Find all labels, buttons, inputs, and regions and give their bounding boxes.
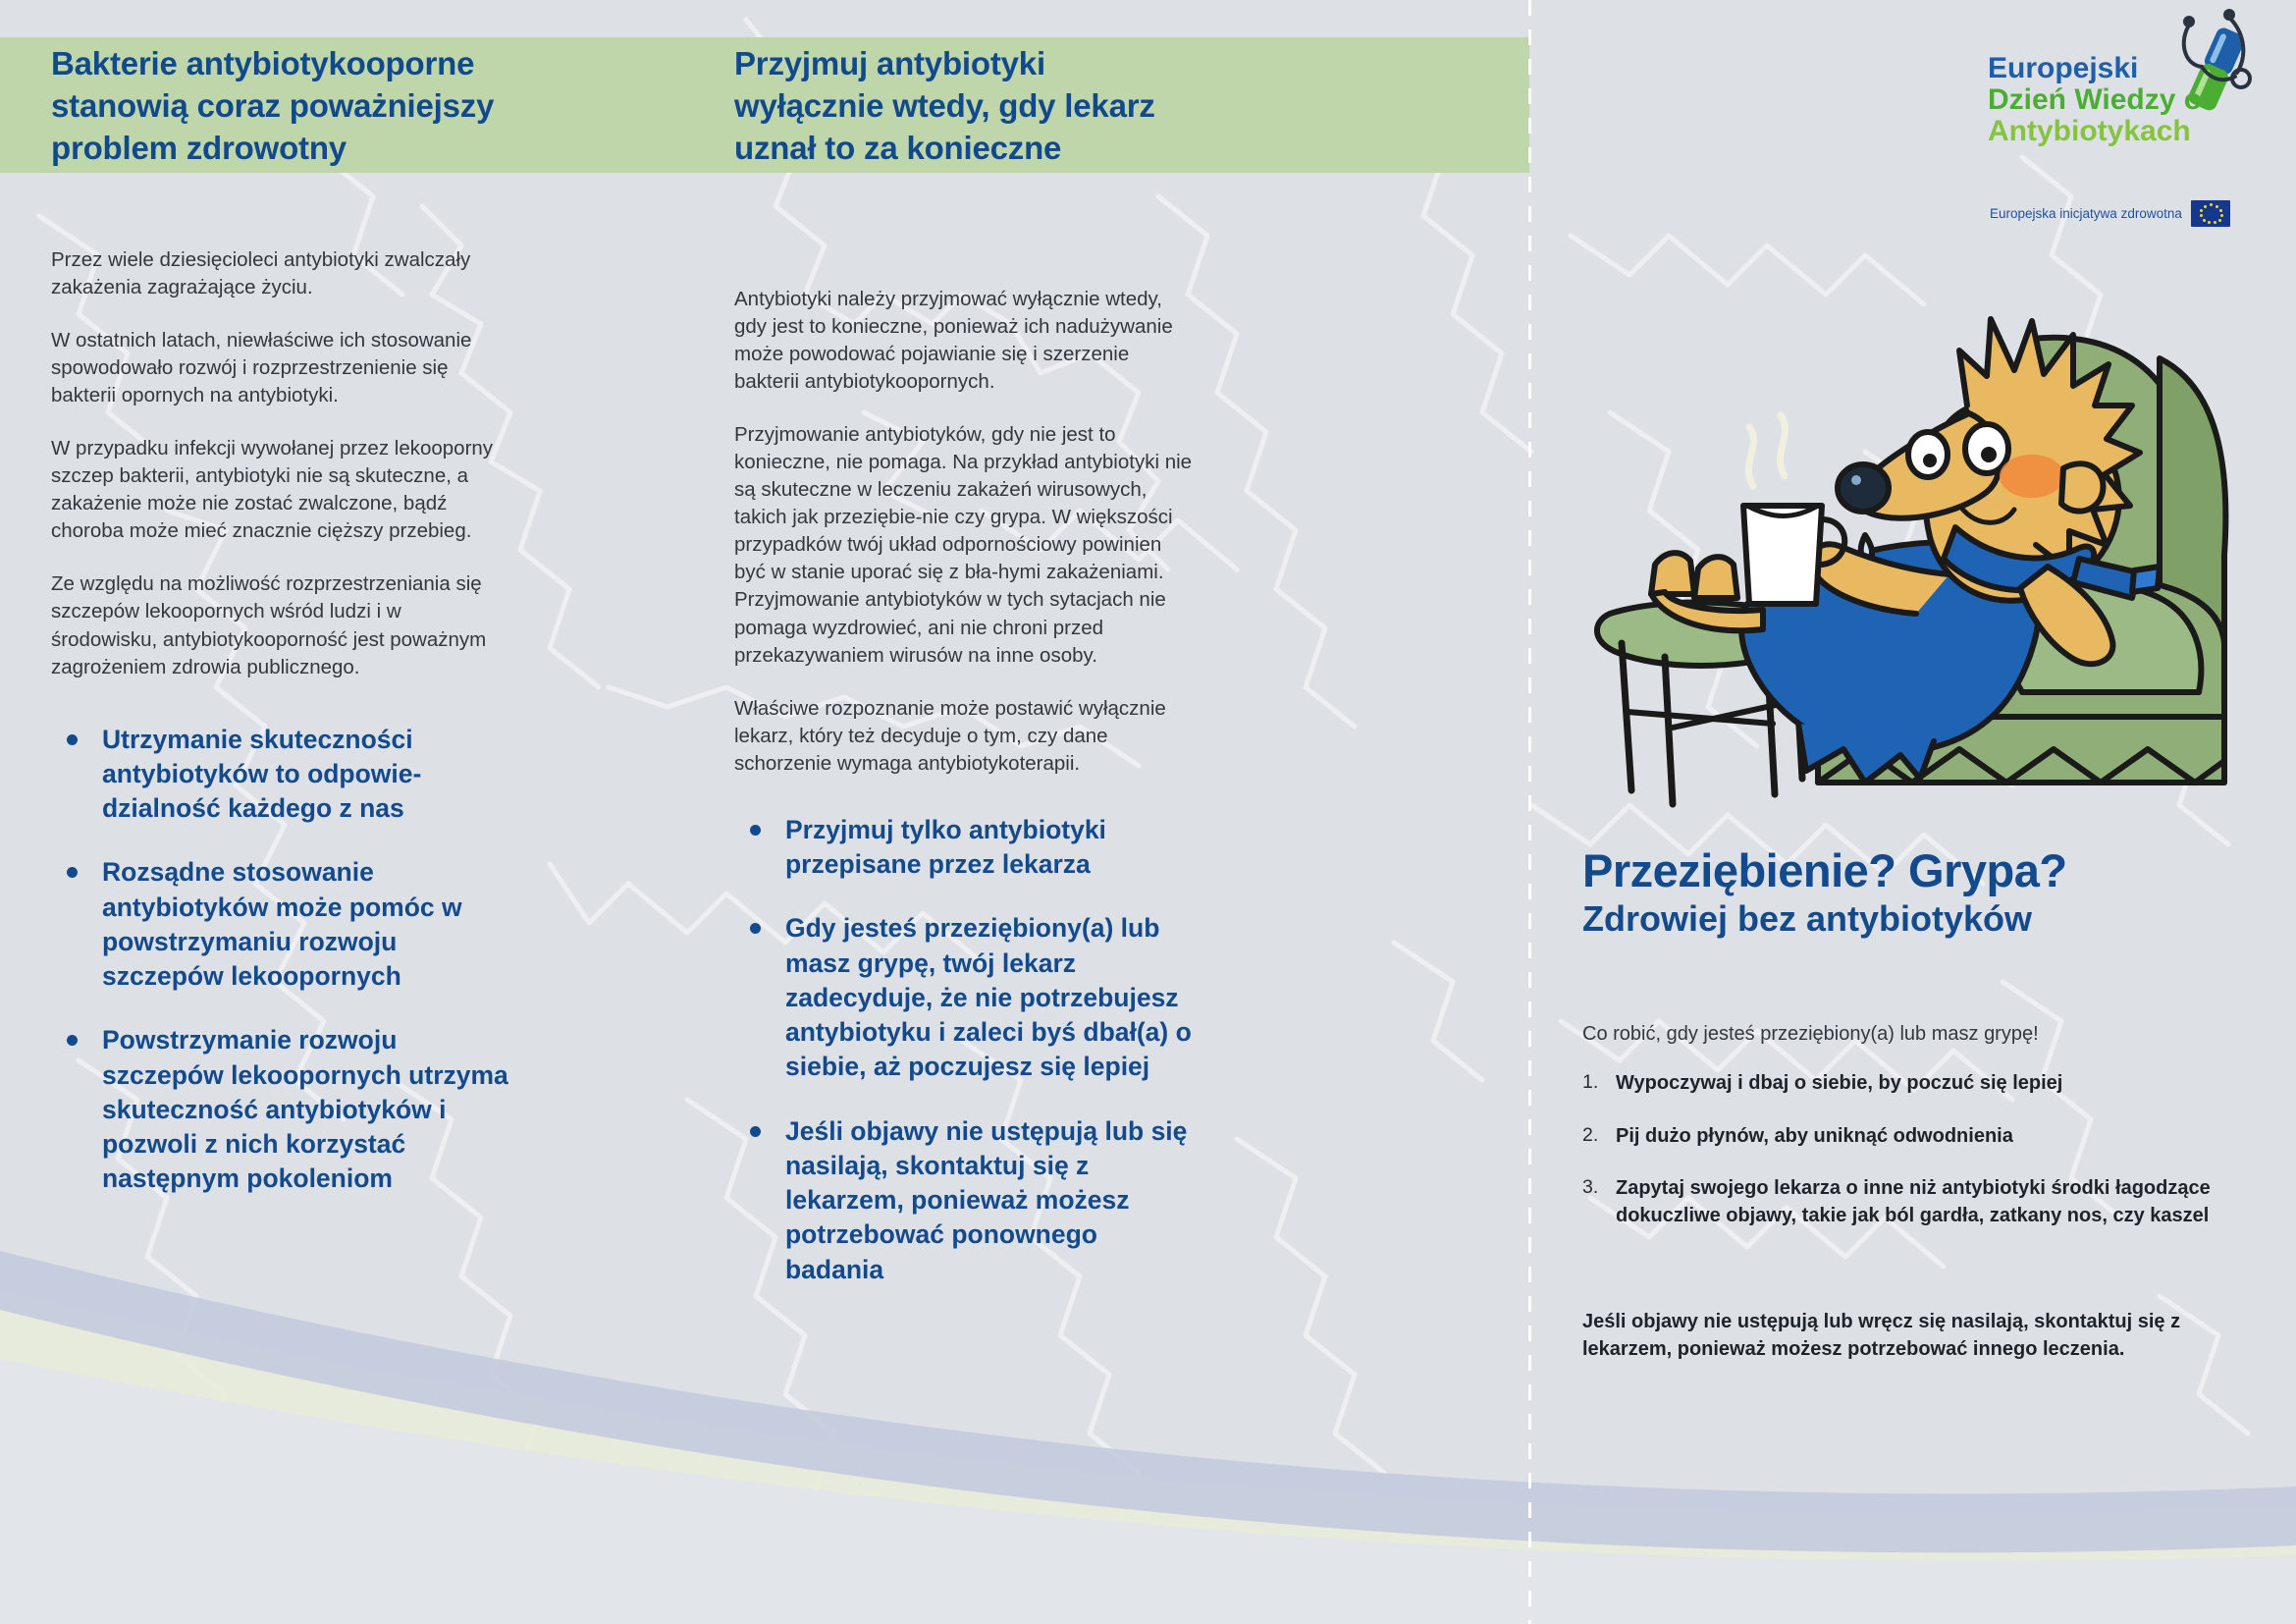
step-text: Pij dużo płynów, aby uniknąć odwodnienia	[1616, 1123, 2013, 1151]
list-item: 3. Zapytaj swojego lekarza o inne niż an…	[1582, 1175, 2269, 1229]
list-item: Rozsądne stosowanie antybiotyków może po…	[51, 855, 512, 994]
step-text: Zapytaj swojego lekarza o inne niż antyb…	[1616, 1175, 2269, 1229]
panel-3: Europejski Dzień Wiedzy o Antybiotykach …	[1561, 0, 2296, 1624]
panel-3-title-line-2: Zdrowiej bez antybiotyków	[1582, 899, 2289, 939]
leaflet-page: Bakterie antybiotykooporne stanowią cora…	[0, 0, 2296, 1624]
list-item: Gdy jesteś przeziębiony(a) lub masz gryp…	[734, 911, 1196, 1084]
list-item: Powstrzymanie rozwoju szczepów lekooporn…	[51, 1023, 512, 1196]
bullet-dot-icon	[750, 825, 761, 836]
column-2-bullet-list: Przyjmuj tylko antybiotyki przepisane pr…	[734, 813, 1196, 1287]
paragraph: Przyjmowanie antybiotyków, gdy nie jest …	[734, 421, 1196, 670]
bullet-dot-icon	[750, 1126, 761, 1137]
column-1-body: Przez wiele dziesięcioleci antybiotyki z…	[51, 246, 512, 681]
step-text: Wypoczywaj i dbaj o siebie, by poczuć si…	[1616, 1070, 2062, 1098]
paragraph: Ze względu na możliwość rozprzestrzenian…	[51, 570, 512, 680]
panel-3-footer: Jeśli objawy nie ustępują lub wręcz się …	[1582, 1308, 2250, 1363]
column-2: Przyjmuj antybiotyki wyłącznie wtedy, gd…	[734, 43, 1196, 1317]
bullet-dot-icon	[67, 734, 78, 745]
panel-3-title: Przeziębienie? Grypa? Zdrowiej bez antyb…	[1582, 846, 2289, 939]
paragraph: Antybiotyki należy przyjmować wyłącznie …	[734, 286, 1196, 396]
step-number: 1.	[1582, 1070, 1616, 1098]
logo-line-3: Antybiotykach	[1988, 116, 2214, 147]
logo-line-1: Europejski	[1988, 53, 2214, 84]
list-item-text: Rozsądne stosowanie antybiotyków może po…	[102, 857, 462, 991]
list-item: Jeśli objawy nie ustępują lub się nasila…	[734, 1114, 1196, 1287]
step-number: 2.	[1582, 1123, 1616, 1151]
panel-3-title-line-1: Przeziębienie? Grypa?	[1582, 846, 2289, 895]
sick-hedgehog-illustration	[1571, 182, 2287, 810]
panel-3-lead: Co robić, gdy jesteś przeziębiony(a) lub…	[1582, 1023, 2269, 1046]
list-item: Utrzymanie skuteczności antybiotyków to …	[51, 723, 512, 827]
column-2-heading: Przyjmuj antybiotyki wyłącznie wtedy, gd…	[734, 43, 1181, 170]
logo-line-2: Dzień Wiedzy o	[1988, 84, 2214, 116]
column-1-heading: Bakterie antybiotykooporne stanowią cora…	[51, 43, 498, 170]
paragraph: W ostatnich latach, niewłaściwe ich stos…	[51, 327, 512, 409]
paragraph: Właściwe rozpoznanie może postawić wyłąc…	[734, 695, 1196, 778]
bullet-dot-icon	[750, 923, 761, 934]
paragraph: Przez wiele dziesięcioleci antybiotyki z…	[51, 246, 512, 301]
list-item: Przyjmuj tylko antybiotyki przepisane pr…	[734, 813, 1196, 882]
list-item-text: Gdy jesteś przeziębiony(a) lub masz gryp…	[785, 913, 1192, 1081]
list-item-text: Jeśli objawy nie ustępują lub się nasila…	[785, 1116, 1187, 1284]
bullet-dot-icon	[67, 867, 78, 878]
list-item-text: Utrzymanie skuteczności antybiotyków to …	[102, 725, 421, 823]
list-item: 1. Wypoczywaj i dbaj o siebie, by poczuć…	[1582, 1070, 2269, 1098]
list-item-text: Przyjmuj tylko antybiotyki przepisane pr…	[785, 815, 1106, 879]
list-item-text: Powstrzymanie rozwoju szczepów lekooporn…	[102, 1025, 508, 1193]
column-1-bullet-list: Utrzymanie skuteczności antybiotyków to …	[51, 723, 512, 1197]
step-number: 3.	[1582, 1175, 1616, 1229]
paragraph: W przypadku infekcji wywołanej przez lek…	[51, 435, 512, 545]
list-item: 2. Pij dużo płynów, aby uniknąć odwodnie…	[1582, 1123, 2269, 1151]
bullet-dot-icon	[67, 1035, 78, 1046]
fold-dashed-line	[1528, 0, 1531, 1624]
column-1: Bakterie antybiotykooporne stanowią cora…	[51, 43, 512, 1226]
panel-3-steps: 1. Wypoczywaj i dbaj o siebie, by poczuć…	[1582, 1070, 2269, 1255]
logo-wordmark: Europejski Dzień Wiedzy o Antybiotykach	[1988, 53, 2214, 146]
column-2-body: Antybiotyki należy przyjmować wyłącznie …	[734, 286, 1196, 778]
